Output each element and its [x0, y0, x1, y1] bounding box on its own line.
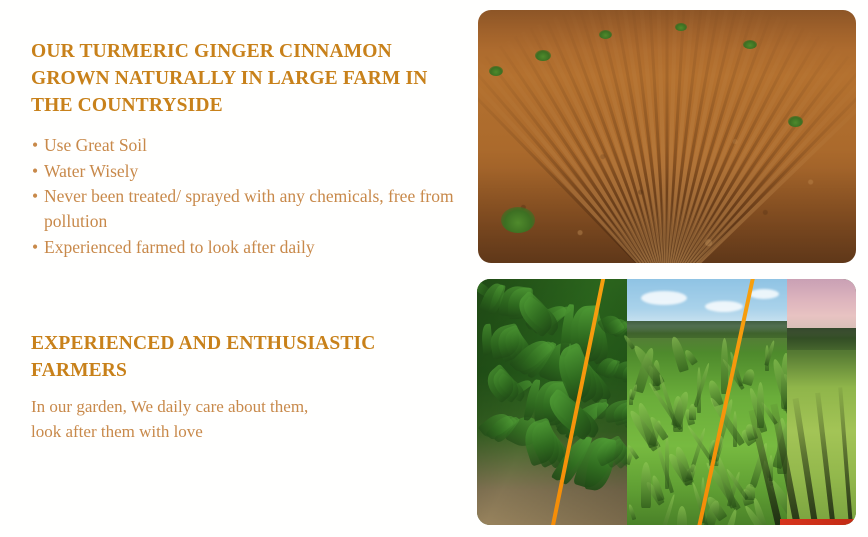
bullet-marker-icon: • — [32, 184, 38, 209]
bullet-marker-icon: • — [32, 159, 38, 184]
list-item-label: Never been treated/ sprayed with any che… — [44, 186, 454, 231]
list-item: • Experienced farmed to look after daily — [31, 235, 473, 260]
farming-bullet-list: • Use Great Soil • Water Wisely • Never … — [31, 133, 473, 260]
crop-rows-panel — [787, 279, 856, 525]
farmers-body-text: In our garden, We daily care about them,… — [31, 394, 461, 444]
list-item: • Water Wisely — [31, 159, 473, 184]
list-item-label: Use Great Soil — [44, 135, 147, 155]
three-panel-crop-composite-photo — [477, 279, 856, 525]
soil-clod-texture — [478, 10, 856, 263]
sprout-icon — [489, 66, 503, 76]
cloud-icon — [705, 301, 743, 312]
cloud-icon — [641, 291, 687, 305]
text-column: OUR TURMERIC GINGER CINNAMON GROWN NATUR… — [0, 0, 472, 537]
bullet-marker-icon: • — [32, 133, 38, 158]
leafy-plants-panel — [477, 279, 637, 525]
bullet-marker-icon: • — [32, 235, 38, 260]
list-item-label: Water Wisely — [44, 161, 138, 181]
red-accent-strip — [780, 519, 856, 525]
treeline — [627, 321, 797, 338]
slide-root: OUR TURMERIC GINGER CINNAMON GROWN NATUR… — [0, 0, 868, 537]
treeline — [787, 328, 856, 350]
sprout-icon — [501, 207, 535, 233]
sprout-icon — [675, 23, 687, 31]
list-item: • Use Great Soil — [31, 133, 473, 158]
plowed-soil-field-photo — [478, 10, 856, 263]
cloud-icon — [749, 289, 779, 299]
farming-heading: OUR TURMERIC GINGER CINNAMON GROWN NATUR… — [31, 38, 471, 119]
list-item: • Never been treated/ sprayed with any c… — [31, 184, 473, 234]
list-item-label: Experienced farmed to look after daily — [44, 237, 315, 257]
farmers-heading: EXPERIENCED AND ENTHUSIASTIC FARMERS — [31, 330, 471, 384]
